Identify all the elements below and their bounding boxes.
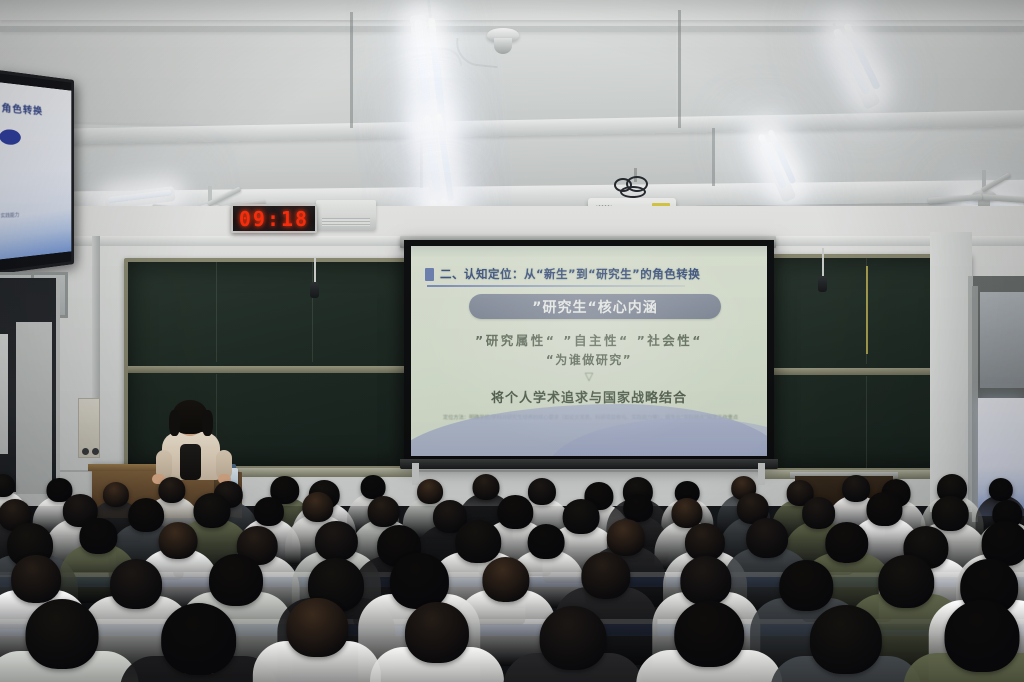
slide-title-marker-icon (425, 268, 434, 281)
presenter-hair-side (169, 410, 180, 436)
audience-member (0, 599, 139, 682)
audience-member-head (302, 492, 333, 522)
audience-member-head (779, 560, 832, 611)
audience-member (637, 601, 782, 682)
wall-mounted-monitor: 角色转换 实践能力 (0, 69, 74, 274)
power-socket-icon[interactable] (92, 448, 99, 455)
slide-conclusion: 将个人学术追求与国家战略结合 (411, 387, 767, 406)
door-upper-glass (980, 292, 1024, 388)
presentation-slide: 二、认知定位：从“新生”到“研究生”的角色转换 ”研究生“核心内涵 ”研究属性“… (411, 246, 767, 456)
presenter (150, 400, 242, 480)
hanging-wire (822, 248, 824, 278)
slide-title: 二、认知定位：从“新生”到“研究生”的角色转换 (440, 266, 700, 282)
hanging-microphone-icon (310, 282, 319, 298)
projector-mount (612, 176, 658, 200)
audience-member-head (680, 556, 731, 605)
audience-member-head (26, 599, 99, 669)
clock-time-display: 09:18 (239, 207, 309, 231)
air-conditioner-grill (322, 218, 370, 226)
audience-member-head (254, 497, 284, 526)
projection-screen: 二、认知定位：从“新生”到“研究生”的角色转换 ”研究生“核心内涵 ”研究属性“… (404, 240, 774, 462)
blackboard-seam (866, 376, 867, 470)
monitor-slide-title: 角色转换 (2, 100, 43, 117)
blackboard-divider (128, 366, 408, 373)
audience-member-head (989, 478, 1013, 501)
audience-member-head (607, 519, 645, 556)
ceiling-seam (678, 10, 681, 128)
audience-member-head (746, 518, 788, 558)
door-leaf[interactable] (16, 322, 52, 494)
audience-member-head (161, 603, 237, 675)
monitor-screen: 角色转换 实践能力 (0, 82, 71, 260)
smoke-detector-body (494, 38, 512, 54)
blackboard-seam (216, 262, 217, 362)
slide-decoration-hill (411, 404, 767, 456)
audience-member (503, 606, 643, 682)
audience-member-head (674, 601, 744, 667)
door-glass-panel (0, 334, 8, 454)
power-socket-icon[interactable] (82, 448, 89, 455)
audience-member (253, 598, 381, 682)
audience-member (370, 602, 504, 682)
projector-cable (620, 186, 646, 198)
slide-keywords: ”研究属性“ ”自主性“ ”社会性“ (411, 330, 767, 349)
audience-member-head (286, 598, 347, 657)
slide-title-underline (427, 285, 685, 287)
presenter-vest (180, 444, 201, 480)
audience-member-head (11, 555, 61, 603)
audience-member-head (809, 605, 881, 674)
audience-member-head (315, 521, 357, 561)
wall-conduit-pipe (92, 236, 100, 416)
fan-blade (928, 194, 982, 204)
monitor-slide-shape (0, 129, 21, 145)
wall-clock: 09:18 (231, 204, 317, 233)
audience-member-head (482, 557, 529, 602)
audience-member-head (581, 552, 630, 599)
blackboard-seam (312, 262, 313, 362)
ceiling-seam (350, 12, 353, 128)
audience-member-head (944, 600, 1019, 672)
audience-member-head (867, 492, 902, 526)
screen-bottom-bar (400, 459, 778, 469)
lecture-hall-photo: 09:18 二、认知定位：从“新生”到“研究生”的角色转换 ”研究生“核心内 (0, 0, 1024, 682)
ceiling-seam (712, 128, 715, 186)
slide-title-row: 二、认知定位：从“新生”到“研究生”的角色转换 (425, 266, 757, 282)
down-arrow-icon: ▽ (411, 370, 767, 383)
audience-member-head (80, 518, 117, 554)
audience-member-head (390, 553, 448, 609)
light-stem (427, 0, 432, 18)
monitor-slide-note: 实践能力 (0, 209, 68, 219)
hanging-wire (314, 258, 316, 284)
chalk-mark (866, 266, 868, 354)
audience-area (0, 470, 1024, 682)
slide-question: “为谁做研究” (411, 351, 767, 368)
slide-top-band (411, 246, 767, 257)
audience-member (770, 605, 921, 682)
hanging-microphone-icon (818, 276, 827, 292)
audience-member (904, 600, 1024, 682)
presenter-hair-side (202, 410, 213, 436)
slide-badge-text: ”研究生“核心内涵 (532, 297, 657, 317)
audience-member-head (539, 606, 606, 670)
slide-badge: ”研究生“核心内涵 (469, 294, 721, 319)
audience-member-head (404, 602, 468, 663)
